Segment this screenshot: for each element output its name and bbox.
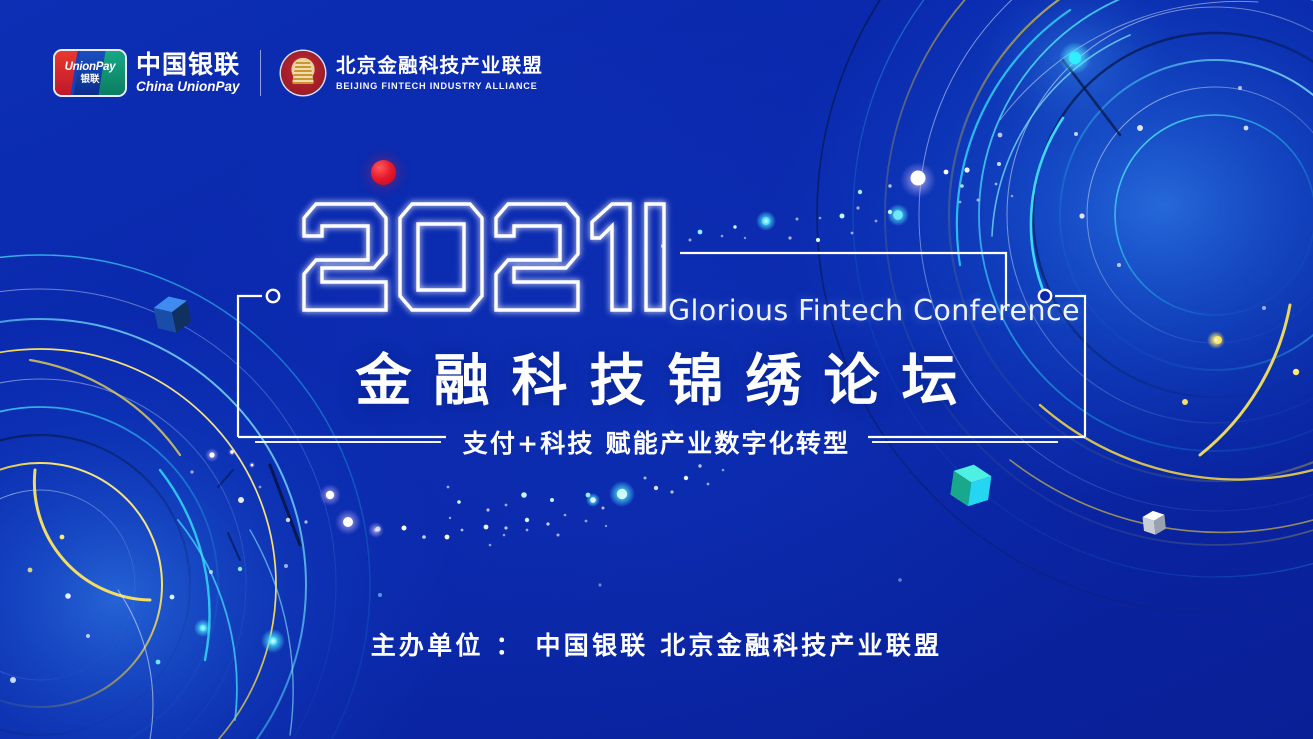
unionpay-card-icon: UnionPay 银联: [55, 51, 125, 95]
conference-poster: UnionPay 银联 中国银联 China UnionPay 北京金融科技产业…: [0, 0, 1313, 739]
alliance-name-cn: 北京金融科技产业联盟: [336, 55, 543, 77]
unionpay-name-cn: 中国银联: [136, 52, 240, 79]
alliance-wordmark: 北京金融科技产业联盟 BEIJING FINTECH INDUSTRY ALLI…: [336, 55, 543, 90]
alliance-logo: 北京金融科技产业联盟 BEIJING FINTECH INDUSTRY ALLI…: [281, 51, 543, 95]
unionpay-card-line2: 银联: [80, 75, 99, 85]
unionpay-wordmark: 中国银联 China UnionPay: [136, 52, 240, 94]
unionpay-logo: UnionPay 银联 中国银联 China UnionPay: [55, 51, 240, 95]
unionpay-name-en: China UnionPay: [136, 80, 240, 94]
blue-cube-icon: [152, 293, 193, 336]
teal-cube-icon: [949, 462, 992, 509]
alliance-seal-icon: [281, 51, 325, 95]
organizer-line: 主办单位 ： 中国银联 北京金融科技产业联盟: [0, 626, 1313, 662]
unionpay-card-line1: UnionPay: [65, 62, 116, 74]
logo-divider: [260, 50, 261, 96]
alliance-name-en: BEIJING FINTECH INDUSTRY ALLIANCE: [336, 81, 543, 91]
white-cube-icon: [1142, 510, 1166, 536]
sponsor-logo-bar: UnionPay 银联 中国银联 China UnionPay 北京金融科技产业…: [55, 50, 543, 96]
